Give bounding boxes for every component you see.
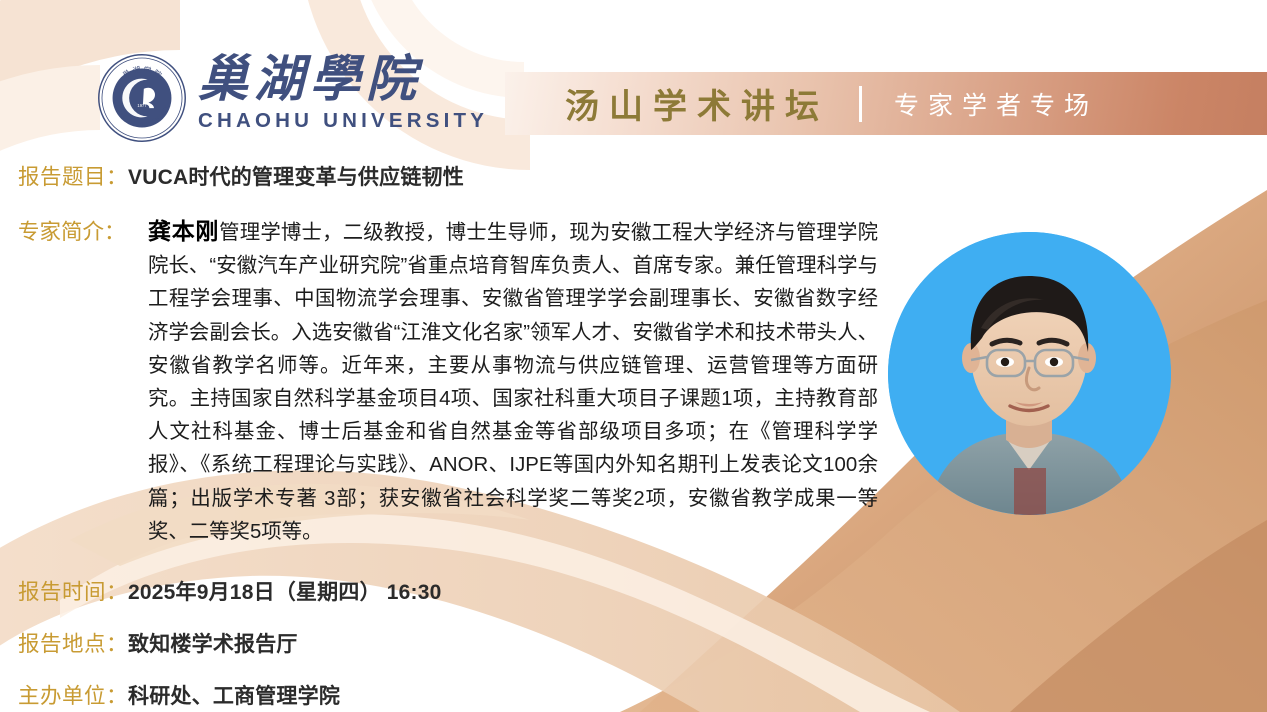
bio-label: 专家简介：: [18, 215, 126, 246]
bio-body: 龚本刚管理学博士，二级教授，博士生导师，现为安徽工程大学经济与管理学院院长、“安…: [148, 215, 878, 549]
time-value: 2025年9月18日（星期四） 16:30: [128, 576, 442, 606]
field-place: 报告地点： 致知楼学术报告厅: [18, 627, 298, 658]
title-value: VUCA时代的管理变革与供应链韧性: [128, 161, 464, 191]
speaker-portrait: [888, 232, 1171, 515]
lecture-poster: 1977 巢 湖 学 院 CHAOHU UNIVERSITY 巢湖學院 CHAO…: [0, 0, 1267, 712]
field-time: 报告时间： 2025年9月18日（星期四） 16:30: [18, 575, 442, 606]
title-label: 报告题目：: [18, 160, 128, 191]
place-value: 致知楼学术报告厅: [128, 628, 298, 658]
organizer-label: 主办单位：: [18, 679, 128, 710]
place-label: 报告地点：: [18, 627, 128, 658]
time-label: 报告时间：: [18, 575, 128, 606]
organizer-value: 科研处、工商管理学院: [128, 680, 340, 710]
field-title: 报告题目： VUCA时代的管理变革与供应链韧性: [18, 160, 464, 191]
field-organizer: 主办单位： 科研处、工商管理学院: [18, 679, 340, 710]
field-bio: 专家简介： 龚本刚管理学博士，二级教授，博士生导师，现为安徽工程大学经济与管理学…: [18, 215, 878, 549]
bio-text: 管理学博士，二级教授，博士生导师，现为安徽工程大学经济与管理学院院长、“安徽汽车…: [148, 222, 878, 543]
portrait-illustration: [888, 232, 1171, 515]
bio-speaker-name: 龚本刚: [148, 218, 219, 244]
